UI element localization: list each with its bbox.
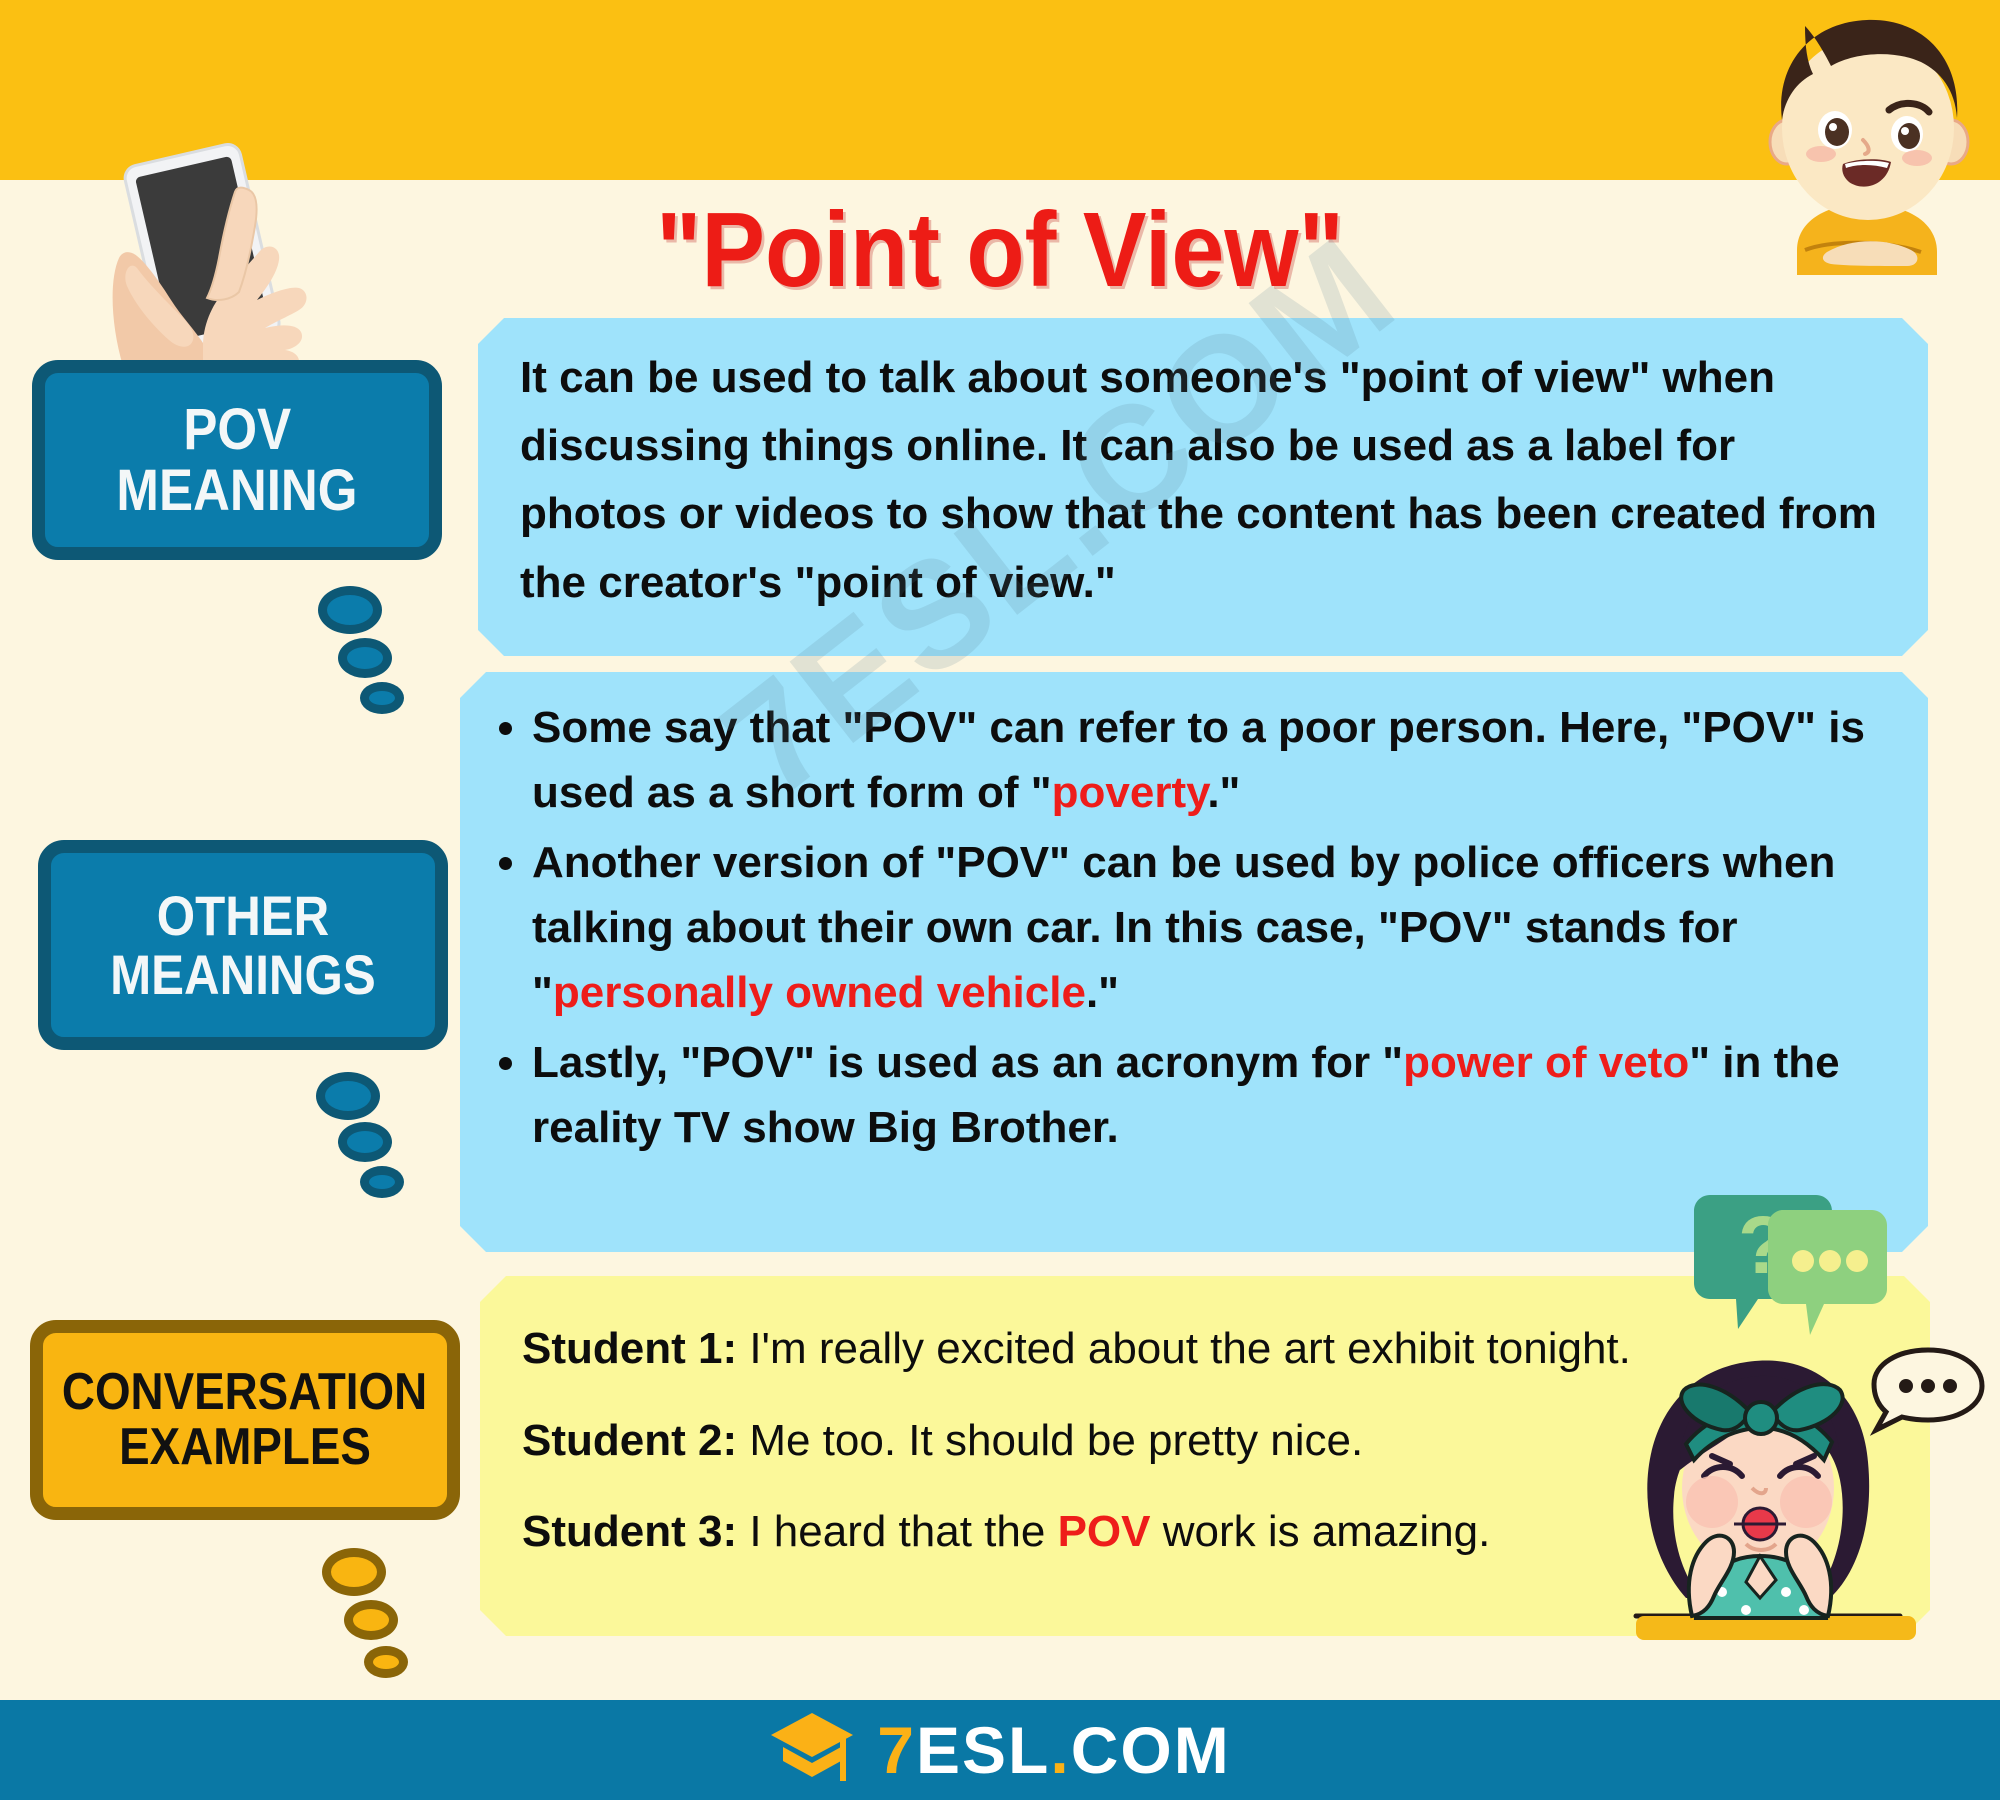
logo-dot: . [1050,1712,1070,1788]
line-3-post: work is amazing. [1150,1507,1490,1556]
badge-convo-line1: CONVERSATION [62,1365,427,1420]
graduation-cap-icon [769,1711,855,1789]
thought-bubble-small-2 [360,1166,404,1198]
list-item: Another version of "POV" can be used by … [532,831,1894,1025]
bullet-2-highlight: personally owned vehicle [553,968,1086,1017]
green-chat-bubbles-illustration: ? [1690,1195,1890,1345]
badge-pov-line2: MEANING [116,460,357,521]
thought-bubble-large-2 [316,1072,380,1120]
thought-bubble-small-1 [360,682,404,714]
list-item: Lastly, "POV" is used as an acronym for … [532,1031,1894,1160]
logo-com: COM [1071,1712,1231,1788]
speech-bubble-large-3 [322,1548,386,1596]
pov-meaning-panel: It can be used to talk about someone's "… [478,318,1928,656]
line-3-pre: I heard that the [737,1507,1057,1556]
bullet-1-post: ." [1207,768,1240,817]
line-1-pre: I'm really excited about the art exhibit… [737,1324,1631,1373]
bullet-2-post: ." [1086,968,1119,1017]
badge-other-line2: MEANINGS [110,945,376,1004]
other-meanings-panel: Some say that "POV" can refer to a poor … [460,672,1928,1252]
logo-wordmark: 7ESL.COM [877,1712,1230,1788]
thought-bubble-large-1 [318,586,382,634]
speech-bubble-small-3 [364,1646,408,1678]
line-2-pre: Me too. It should be pretty nice. [737,1416,1363,1465]
speaker-label-3: Student 3: [522,1507,737,1556]
badge-pov-meaning: POV MEANING [32,360,442,560]
other-meanings-list: Some say that "POV" can refer to a poor … [486,696,1894,1161]
speaker-label-1: Student 1: [522,1324,737,1373]
infographic-page: What Does "POV" Mean? "Point of View" [0,0,2000,1800]
speaker-label-2: Student 2: [522,1416,737,1465]
line-3-highlight: POV [1058,1507,1151,1556]
hand-holding-smartphone-illustration [85,140,385,395]
badge-other-meanings: OTHER MEANINGS [38,840,448,1050]
badge-convo-line2: EXAMPLES [119,1420,371,1475]
speech-bubble-medium-3 [344,1600,398,1640]
badge-pov-line1: POV [183,399,291,460]
bullet-3-highlight: power of veto [1403,1038,1689,1087]
logo-seven: 7 [877,1712,916,1788]
footer-bar: 7ESL.COM [0,1700,2000,1800]
logo-esl: ESL [916,1712,1050,1788]
pov-meaning-text: It can be used to talk about someone's "… [478,318,1928,617]
smiling-boy-illustration [1735,0,2000,280]
badge-other-line1: OTHER [157,886,329,945]
site-logo: 7ESL.COM [769,1711,1230,1789]
other-meanings-text: Some say that "POV" can refer to a poor … [460,672,1928,1161]
bullet-3-pre: Lastly, "POV" is used as an acronym for … [532,1038,1403,1087]
thinking-girl-illustration [1600,1330,2000,1665]
list-item: Some say that "POV" can refer to a poor … [532,696,1894,825]
bullet-1-highlight: poverty [1052,768,1208,817]
page-subtitle: "Point of View" [442,190,1558,311]
thought-bubble-medium-2 [338,1122,392,1162]
badge-conversation-examples: CONVERSATION EXAMPLES [30,1320,460,1520]
thought-bubble-medium-1 [338,638,392,678]
